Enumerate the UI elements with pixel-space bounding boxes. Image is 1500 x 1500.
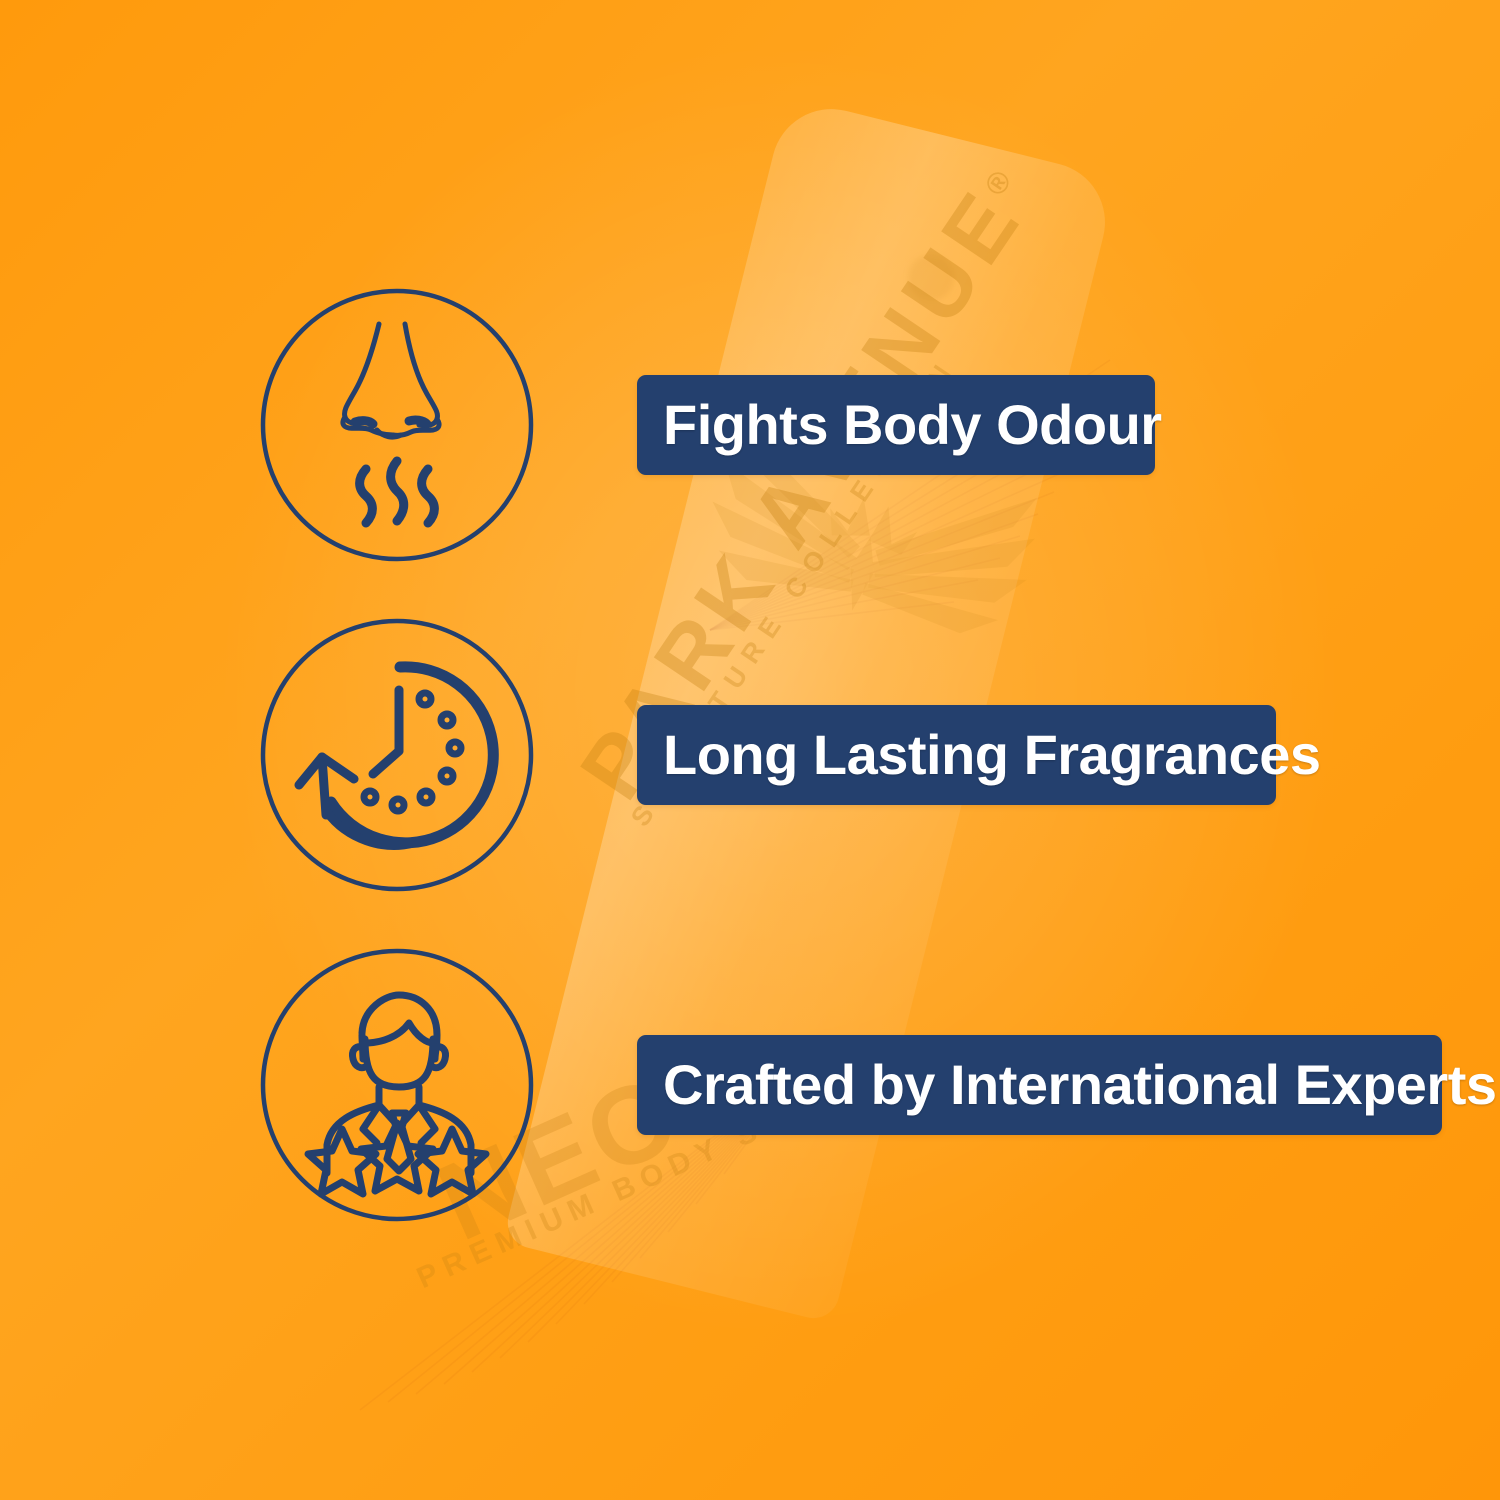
- feature-row: Long Lasting Fragrances: [0, 617, 1500, 893]
- expert-person-stars-icon: [259, 947, 535, 1223]
- feature-label: Long Lasting Fragrances: [663, 727, 1321, 783]
- feature-label: Crafted by International Experts: [663, 1057, 1497, 1113]
- clock-arrow-icon: [259, 617, 535, 893]
- feature-banner[interactable]: Long Lasting Fragrances: [637, 705, 1276, 805]
- feature-label: Fights Body Odour: [663, 397, 1162, 453]
- feature-banner[interactable]: Crafted by International Experts: [637, 1035, 1442, 1135]
- feature-banner[interactable]: Fights Body Odour: [637, 375, 1155, 475]
- product-feature-infographic: PARK AVENUE® SIGNATURE COLLECTION NEO PR…: [0, 0, 1500, 1500]
- features-list: Fights Body Odour: [0, 0, 1500, 1500]
- nose-smell-icon: [259, 287, 535, 563]
- feature-row: Crafted by International Experts: [0, 947, 1500, 1223]
- feature-row: Fights Body Odour: [0, 287, 1500, 563]
